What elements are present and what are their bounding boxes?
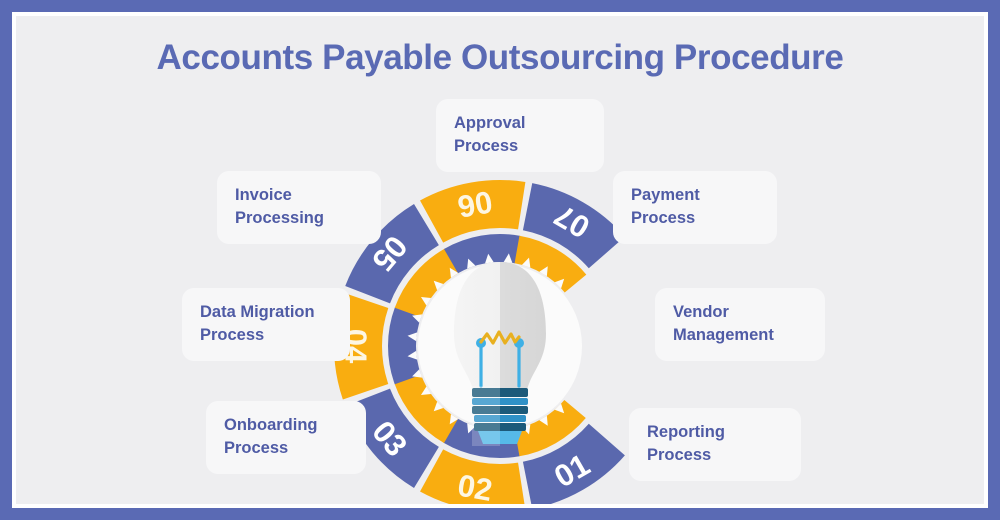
segment-number-02: 02 [455,468,495,504]
label-card-invoice-processing[interactable]: Invoice Processing [217,171,381,244]
label-card-vendor-management[interactable]: Vendor Management [655,288,825,361]
infographic-stage: Accounts Payable Outsourcing Procedure 0… [0,0,1000,520]
process-wheel: 01020304050607 [16,16,984,504]
label-card-reporting-process[interactable]: Reporting Process [629,408,801,481]
label-card-onboarding-process[interactable]: Onboarding Process [206,401,366,474]
label-card-approval-process[interactable]: Approval Process [436,99,604,172]
segment-number-06: 06 [455,184,495,224]
bulb-base-highlight [472,386,500,446]
infographic-canvas: Accounts Payable Outsourcing Procedure 0… [16,16,984,504]
label-card-payment-process[interactable]: Payment Process [613,171,777,244]
label-card-data-migration-process[interactable]: Data Migration Process [182,288,350,361]
bulb-glass [454,262,546,396]
